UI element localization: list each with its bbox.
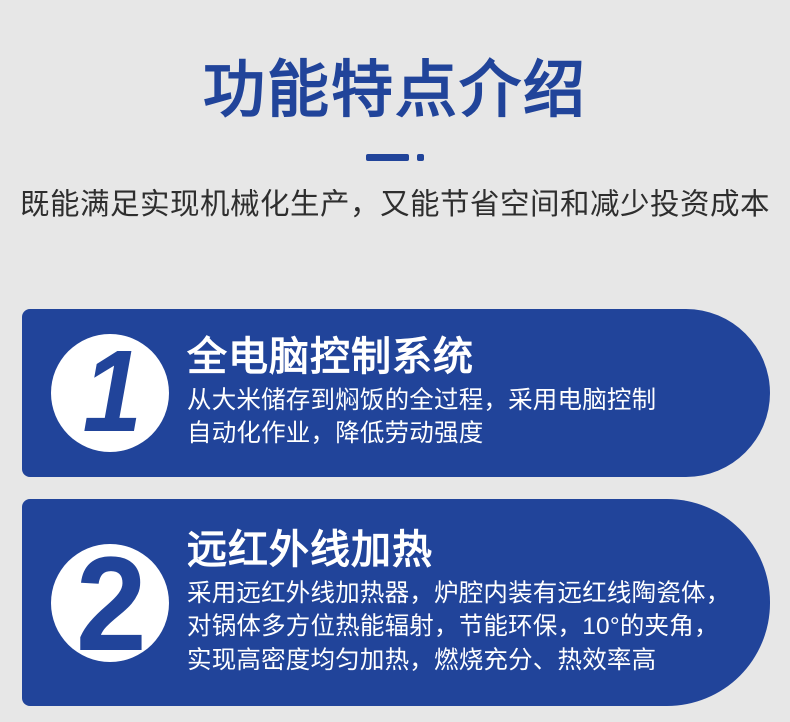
feature-card-body-1: 全电脑控制系统 从大米储存到焖饭的全过程，采用电脑控制 自动化作业，降低劳动强度	[187, 335, 770, 450]
feature-number-badge-1: 1	[51, 334, 169, 452]
feature-heading-1: 全电脑控制系统	[187, 335, 746, 380]
feature-description-1: 从大米储存到焖饭的全过程，采用电脑控制 自动化作业，降低劳动强度	[187, 384, 746, 451]
promo-page: 功能特点介绍 既能满足实现机械化生产，又能节省空间和减少投资成本 1 全电脑控制…	[0, 0, 790, 722]
feature-card-2: 2 远红外线加热 采用远红外线加热器，炉腔内装有远红线陶瓷体， 对锅体多方位热能…	[22, 499, 770, 706]
title-divider	[0, 153, 790, 161]
feature-number-badge-2: 2	[51, 544, 169, 662]
feature-description-line: 实现高密度均匀加热，燃烧充分、热效率高	[187, 644, 746, 677]
page-title: 功能特点介绍	[0, 58, 790, 123]
feature-description-2: 采用远红外线加热器，炉腔内装有远红线陶瓷体， 对锅体多方位热能辐射，节能环保，1…	[187, 577, 746, 677]
page-subtitle: 既能满足实现机械化生产，又能节省空间和减少投资成本	[0, 187, 790, 222]
feature-card-1: 1 全电脑控制系统 从大米储存到焖饭的全过程，采用电脑控制 自动化作业，降低劳动…	[22, 309, 770, 477]
feature-description-line: 从大米储存到焖饭的全过程，采用电脑控制	[187, 384, 746, 417]
divider-dot-icon	[417, 154, 424, 161]
feature-number-2: 2	[76, 538, 147, 672]
feature-description-line: 对锅体多方位热能辐射，节能环保，10°的夹角，	[187, 610, 746, 643]
feature-number-1: 1	[82, 333, 141, 449]
feature-card-body-2: 远红外线加热 采用远红外线加热器，炉腔内装有远红线陶瓷体， 对锅体多方位热能辐射…	[187, 528, 770, 677]
feature-description-line: 自动化作业，降低劳动强度	[187, 417, 746, 450]
feature-description-line: 采用远红外线加热器，炉腔内装有远红线陶瓷体，	[187, 577, 746, 610]
divider-bar-icon	[366, 154, 409, 161]
feature-card-list: 1 全电脑控制系统 从大米储存到焖饭的全过程，采用电脑控制 自动化作业，降低劳动…	[0, 309, 790, 706]
feature-heading-2: 远红外线加热	[187, 528, 746, 573]
page-header: 功能特点介绍 既能满足实现机械化生产，又能节省空间和减少投资成本	[0, 0, 790, 222]
